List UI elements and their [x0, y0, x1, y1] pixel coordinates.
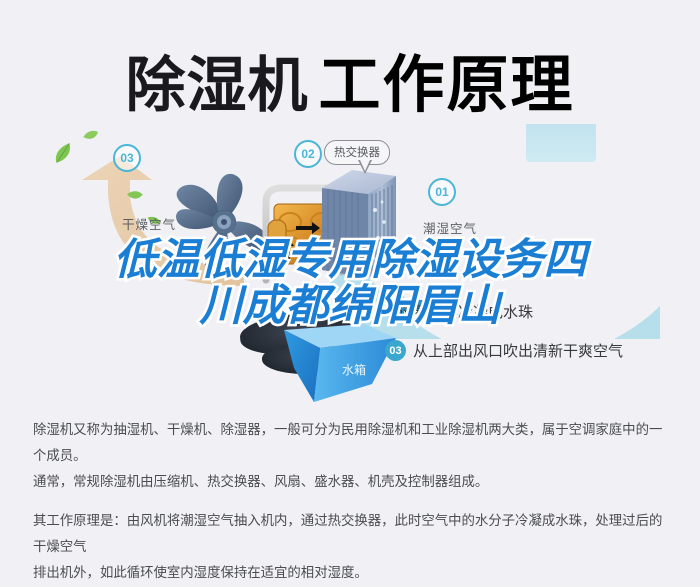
step-line-02: 过蒸发器冷凝成水珠: [398, 301, 533, 322]
body-copy: 除湿机又称为抽湿机、干燥机、除湿器，一般可分为民用除湿机和工业除湿机两大类，属于…: [33, 418, 673, 587]
badge-03-step: 03: [385, 340, 406, 361]
dry-air-label: 干燥空气: [122, 214, 176, 233]
leaf-icon: [83, 128, 99, 141]
infographic-page: 除湿机工作原理: [0, 0, 700, 566]
badge-01: 01: [428, 178, 456, 206]
page-title-part1: 除湿机: [125, 51, 308, 121]
step-03-text: 从上部出风口吹出清新干爽空气: [413, 340, 623, 361]
paragraph-1-line-2: 通常，常规除湿机由压缩机、热交换器、风扇、盛水器、机壳及控制器组成。: [33, 470, 673, 496]
page-title-part2: 工作原理: [318, 48, 574, 121]
step-02-text: 过蒸发器冷凝成水珠: [398, 301, 533, 322]
callout-tail: [358, 160, 372, 174]
badge-02: 02: [294, 140, 322, 168]
page-title: 除湿机工作原理: [0, 34, 700, 124]
heat-exchanger-block: [318, 162, 400, 292]
paragraph-1-line-1: 除湿机又称为抽湿机、干燥机、除湿器，一般可分为民用除湿机和工业除湿机两大类，属于…: [33, 418, 673, 470]
step-line-03: 03 从上部出风口吹出清新干爽空气: [385, 340, 623, 361]
water-tank-label: 水箱: [342, 362, 366, 377]
badge-03: 03: [113, 144, 141, 172]
heat-exchanger-callout-label: 热交换器: [324, 140, 390, 165]
humid-air-label: 潮湿空气: [423, 218, 477, 237]
water-tank: 水箱: [280, 322, 400, 414]
paragraph-2-line-1: 其工作原理是：由风机将潮湿空气抽入机内，通过热交换器，此时空气中的水分子冷凝成水…: [33, 509, 673, 561]
dehumidifier-diagram: 水箱 热交换器 03 02 01 干燥空气 潮湿空气 过蒸发器冷凝成水珠 03 …: [0, 118, 700, 408]
heat-exchanger-callout: 热交换器: [324, 140, 390, 165]
paragraph-spacer: [33, 496, 673, 509]
paragraph-2-line-2: 排出机外，如此循环使室内湿度保持在适宜的相对湿度。: [33, 561, 673, 587]
